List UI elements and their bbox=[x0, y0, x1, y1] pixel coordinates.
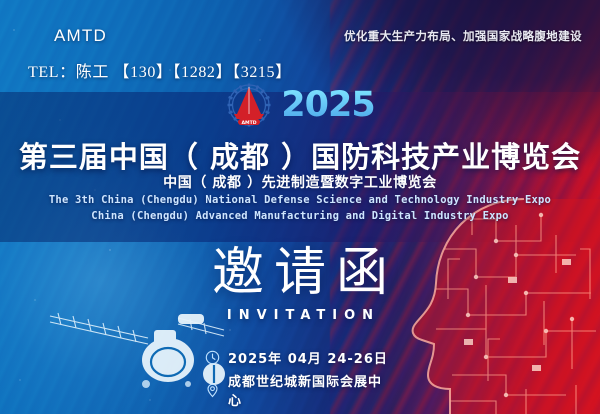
event-venue-row: 成都世纪城新国际会展中心 bbox=[205, 371, 395, 409]
sub-title-cn: 中国（ 成都 ）先进制造暨数字工业博览会 bbox=[0, 172, 600, 192]
event-info: 2025年 04月 24-26日 成都世纪城新国际会展中心 bbox=[0, 348, 600, 409]
clock-icon bbox=[205, 350, 220, 365]
event-date-row: 2025年 04月 24-26日 bbox=[205, 348, 395, 367]
main-title-en: The 3th China (Chengdu) National Defense… bbox=[0, 194, 600, 206]
location-pin-icon bbox=[205, 383, 220, 398]
svg-text:AMTD: AMTD bbox=[242, 120, 257, 126]
sub-title-en: China (Chengdu) Advanced Manufacturing a… bbox=[0, 210, 600, 222]
policy-slogan: 优化重大生产力布局、加强国家战略腹地建设 bbox=[344, 28, 582, 44]
logo-year-row: AMTD 2025 bbox=[0, 82, 600, 128]
event-date: 2025年 04月 24-26日 bbox=[228, 348, 388, 367]
rocket-gear-logo-icon: AMTD bbox=[225, 82, 273, 128]
brand-label: AMTD bbox=[54, 26, 107, 46]
year-label: 2025 bbox=[281, 88, 374, 123]
invitation-title-cn: 邀请函 bbox=[0, 246, 600, 301]
invitation-poster: AMTD TEL：陈工 【130】【1282】【3215】 优化重大生产力布局、… bbox=[0, 0, 600, 414]
invitation-title-en: INVITATION bbox=[0, 308, 600, 323]
contact-phone: TEL：陈工 【130】【1282】【3215】 bbox=[28, 58, 292, 82]
main-title-cn: 第三届中国（ 成都 ）国防科技产业博览会 bbox=[0, 134, 600, 176]
event-venue: 成都世纪城新国际会展中心 bbox=[228, 371, 395, 409]
